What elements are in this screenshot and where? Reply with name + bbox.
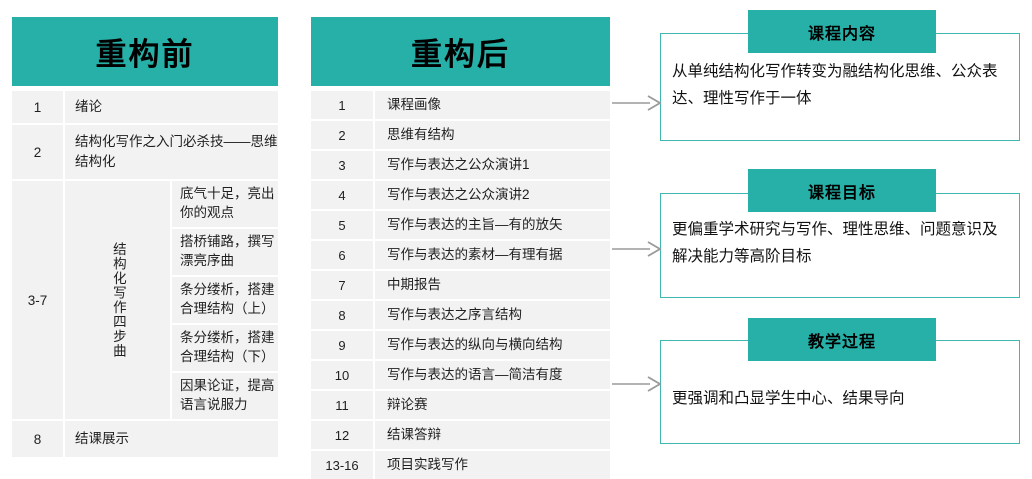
row-subtext: 底气十足，亮出你的观点 [171,180,278,228]
row-subtext: 搭桥铺路，撰写漂亮序曲 [171,228,278,276]
row-text: 课程画像 [374,91,610,120]
course-goal-card-body: 更偏重学术研究与写作、理性思维、问题意识及解决能力等高阶目标 [672,216,1012,270]
course-content-card-title-bg: 课程内容 [748,10,936,53]
row-text: 结课展示 [64,420,278,457]
course-goal-card-text: 更偏重学术研究与写作、理性思维、问题意识及解决能力等高阶目标 [672,221,998,265]
row-subtext: 条分缕析，搭建合理结构（上） [171,276,278,324]
before-restructure-header: 重构前 [12,17,278,86]
row-text: 写作与表达的纵向与横向结构 [374,330,610,360]
row-number: 4 [311,180,374,210]
row-number: 8 [12,420,64,457]
after-restructure-table-wrap: 1课程画像 2思维有结构 3写作与表达之公众演讲1 4写作与表达之公众演讲2 5… [311,91,610,479]
row-number: 1 [12,91,64,124]
after-restructure-title: 重构后 [411,29,510,74]
row-number: 12 [311,420,374,450]
after-restructure-panel: 重构后 1课程画像 2思维有结构 3写作与表达之公众演讲1 4写作与表达之公众演… [311,17,610,479]
row-text: 写作与表达的主旨—有的放矢 [374,210,610,240]
course-goal-card-title: 课程目标 [808,179,876,203]
table-row: 2 结构化写作之入门必杀技——思维结构化 [12,124,278,180]
table-row: 10写作与表达的语言—简洁有度 [311,360,610,390]
row-text: 写作与表达的素材—有理有据 [374,240,610,270]
table-row: 7中期报告 [311,270,610,300]
table-row: 1 绪论 [12,91,278,124]
teaching-process-card-body: 更强调和凸显学生中心、结果导向 [672,385,1012,412]
row-text: 结课答辩 [374,420,610,450]
after-restructure-header: 重构后 [311,17,610,86]
table-row: 3-7 结构化写作四步曲 底气十足，亮出你的观点 [12,180,278,228]
table-row: 12结课答辩 [311,420,610,450]
course-goal-card-title-bg: 课程目标 [748,169,936,212]
teaching-process-card-text: 更强调和凸显学生中心、结果导向 [672,390,905,407]
row-number: 11 [311,390,374,420]
row-number: 5 [311,210,374,240]
row-number: 8 [311,300,374,330]
table-row: 9写作与表达的纵向与横向结构 [311,330,610,360]
row-text: 绪论 [64,91,278,124]
arrow-to-course-goal [610,238,662,260]
course-content-card-text: 从单纯结构化写作转变为融结构化思维、公众表达、理性写作于一体 [672,63,998,107]
table-row: 8 结课展示 [12,420,278,457]
table-row: 8写作与表达之序言结构 [311,300,610,330]
row-number: 2 [311,120,374,150]
table-row: 6写作与表达的素材—有理有据 [311,240,610,270]
row-text: 结构化写作之入门必杀技——思维结构化 [64,124,278,180]
arrow-to-teaching-process [610,373,662,395]
row-subtext: 因果论证，提高语言说服力 [171,372,278,420]
before-restructure-title: 重构前 [96,29,195,74]
row-number: 9 [311,330,374,360]
after-restructure-table: 1课程画像 2思维有结构 3写作与表达之公众演讲1 4写作与表达之公众演讲2 5… [311,91,610,479]
row-text: 思维有结构 [374,120,610,150]
teaching-process-card-title-bg: 教学过程 [748,318,936,361]
teaching-process-card-title: 教学过程 [808,328,876,352]
row-text: 写作与表达之公众演讲1 [374,150,610,180]
row-number: 1 [311,91,374,120]
table-row: 13-16项目实践写作 [311,450,610,479]
row-number: 3-7 [12,180,64,420]
row-text: 写作与表达之序言结构 [374,300,610,330]
row-number: 3 [311,150,374,180]
before-restructure-table: 1 绪论 2 结构化写作之入门必杀技——思维结构化 3-7 结构化写作四步曲 底… [12,91,278,457]
course-content-card-body: 从单纯结构化写作转变为融结构化思维、公众表达、理性写作于一体 [672,58,1012,112]
table-row: 5写作与表达的主旨—有的放矢 [311,210,610,240]
before-restructure-panel: 重构前 1 绪论 2 结构化写作之入门必杀技——思维结构化 3-7 结构化写作四… [12,17,278,457]
row-number: 13-16 [311,450,374,479]
row-number: 10 [311,360,374,390]
table-row: 3写作与表达之公众演讲1 [311,150,610,180]
before-restructure-table-wrap: 1 绪论 2 结构化写作之入门必杀技——思维结构化 3-7 结构化写作四步曲 底… [12,91,278,457]
row-text: 项目实践写作 [374,450,610,479]
course-content-card-title: 课程内容 [808,20,876,44]
row-number: 2 [12,124,64,180]
row-text: 写作与表达之公众演讲2 [374,180,610,210]
row-text: 写作与表达的语言—简洁有度 [374,360,610,390]
table-row: 1课程画像 [311,91,610,120]
row-number: 6 [311,240,374,270]
table-row: 4写作与表达之公众演讲2 [311,180,610,210]
row-text: 中期报告 [374,270,610,300]
row-subtext: 条分缕析，搭建合理结构（下） [171,324,278,372]
table-row: 2思维有结构 [311,120,610,150]
table-row: 11辩论赛 [311,390,610,420]
row-group-label: 结构化写作四步曲 [64,180,171,420]
row-text: 辩论赛 [374,390,610,420]
arrow-to-course-content [610,92,662,114]
row-number: 7 [311,270,374,300]
